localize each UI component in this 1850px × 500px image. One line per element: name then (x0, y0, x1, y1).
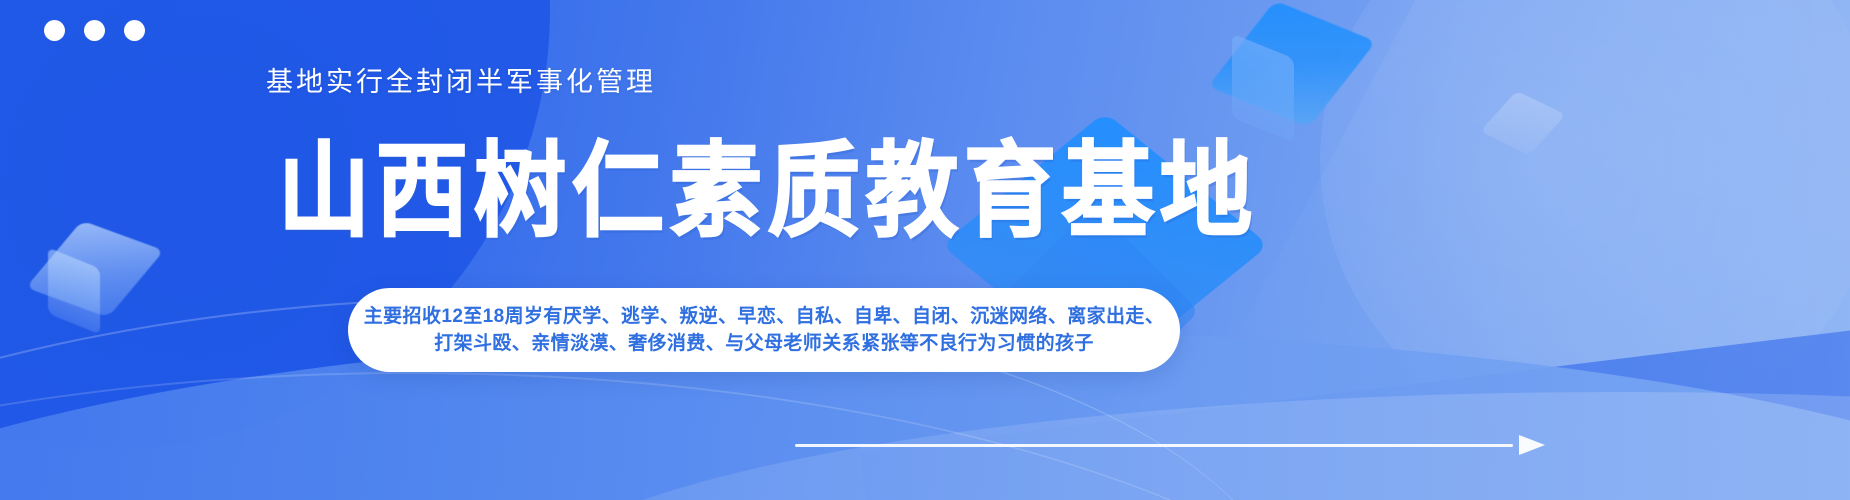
dot-icon (124, 20, 145, 41)
decorative-band-top-right (1180, 0, 1850, 500)
arrow-head-icon (1519, 435, 1545, 455)
decorative-cube-small-right (1480, 91, 1566, 155)
decorative-cube-left-face (48, 247, 100, 334)
banner-title: 山西树仁素质教育基地 (278, 136, 1258, 248)
decorative-cube-top-right (1208, 1, 1376, 128)
banner-subtitle: 基地实行全封闭半军事化管理 (266, 60, 656, 99)
admission-info-line-1: 主要招收12至18周岁有厌学、逃学、叛逆、早恋、自私、自卑、自闭、沉迷网络、离家… (364, 303, 1164, 330)
decorative-cube-top-right-face (1232, 33, 1294, 142)
dot-icon (44, 20, 65, 41)
promotional-banner: 基地实行全封闭半军事化管理 山西树仁素质教育基地 主要招收12至18周岁有厌学、… (0, 0, 1850, 500)
admission-info-card: 主要招收12至18周岁有厌学、逃学、叛逆、早恋、自私、自卑、自闭、沉迷网络、离家… (348, 288, 1180, 372)
arrow-line (795, 444, 1513, 447)
decorative-cube-left (26, 221, 164, 318)
decorative-dots-group (44, 20, 145, 41)
admission-info-line-2: 打架斗殴、亲情淡漠、奢侈消费、与父母老师关系紧张等不良行为习惯的孩子 (434, 330, 1094, 357)
decorative-arrow (795, 430, 1545, 462)
decorative-circle-right (1320, 0, 1850, 440)
dot-icon (84, 20, 105, 41)
